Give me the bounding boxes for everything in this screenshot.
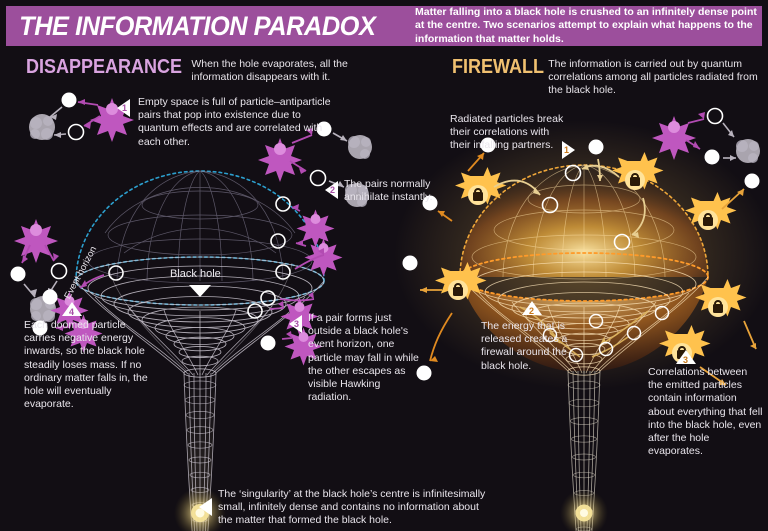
marker-left-1: 1 [117,98,139,118]
particle-circle-icon [705,150,720,165]
section-desc-disappearance: When the hole evaporates, all the inform… [191,56,391,84]
caption-left-2: The pairs normally annihilate instantly. [344,178,464,204]
caption-right-1: Radiated particles break their correlati… [450,113,565,153]
particle-circle-icon [43,290,58,305]
left-diagram-svg [0,85,400,531]
particle-circle-icon [745,174,760,189]
particle-circle-icon [261,336,276,351]
marker-left-4: 4 [62,300,84,320]
lock-icon [473,192,483,201]
marker-left-5 [199,497,221,517]
antiparticle-ring-icon [69,125,84,140]
antiparticle-ring-icon [109,266,123,280]
black-hole-diagram-left [0,85,400,531]
annihilation-cloud-icon [348,135,372,159]
annihilation-cloud-icon [29,114,55,140]
section-heading-disappearance: DISAPPEARANCE When the hole evaporates, … [26,56,391,84]
singularity-glow-icon [560,489,608,531]
antiparticle-ring-icon [708,109,723,124]
page-title: THE INFORMATION PARADOX [6,11,375,42]
caption-left-4: Each doomed particle carries negative en… [24,319,154,411]
particle-circle-icon [62,93,77,108]
marker-left-3: 3 [289,314,311,334]
section-title-disappearance: DISAPPEARANCE [26,56,182,79]
marker-left-2: 2 [325,180,347,200]
header-subtitle: Matter falling into a black hole is crus… [415,6,762,47]
caption-right-2: The energy that is released creates a fi… [481,320,591,373]
caption-left-5: The ‘singularity’ at the black hole’s ce… [218,488,486,528]
header-bar: THE INFORMATION PARADOX Matter falling i… [6,6,762,46]
section-title-firewall: FIREWALL [452,56,544,79]
infographic-canvas: THE INFORMATION PARADOX Matter falling i… [0,0,768,531]
triangle-down-icon [189,285,211,297]
marker-right-1: 1 [562,140,584,160]
marker-right-3: 3 [676,348,698,368]
hawking-pair [271,234,343,277]
triangle-left-icon [199,498,212,516]
lock-icon [453,287,463,296]
label-black-hole: Black hole [170,268,221,280]
particle-pair [11,219,67,322]
caption-left-3: If a pair forms just outside a black hol… [308,312,426,404]
marker-right-2: 2 [522,299,544,319]
particle-circle-icon [403,256,418,271]
antiparticle-ring-icon [311,171,326,186]
caption-right-3: Correlations between the emitted particl… [648,366,764,458]
particle-circle-icon [589,140,604,155]
lock-icon [703,217,713,226]
lock-icon [713,304,723,313]
lock-icon [630,177,640,186]
particle-circle-icon [11,267,26,282]
caption-left-1: Empty space is full of particle–antipart… [138,96,338,149]
antiparticle-ring-icon [52,264,67,279]
annihilation-cloud-icon [736,139,760,163]
